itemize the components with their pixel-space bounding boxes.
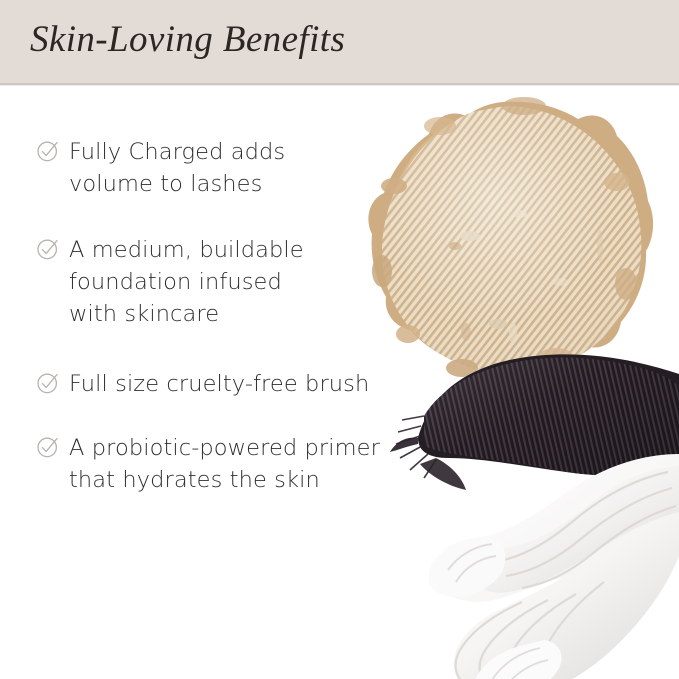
product-benefits-card: Skin-Loving Benefits [0,0,679,679]
list-item-label: Fully Charged adds volume to lashes [69,136,285,200]
check-circle-icon [36,139,60,163]
page-title: Skin-Loving Benefits [30,18,345,61]
list-item-label: Full size cruelty-free brush [69,368,369,400]
list-item: A probiotic-powered primer that hydrates… [36,432,436,496]
check-circle-icon [36,435,60,459]
check-circle-icon [36,237,60,261]
cream-swirl [428,454,679,679]
benefits-list: Fully Charged adds volume to lashes A me… [36,136,436,526]
list-item: A medium, buildable foundation infused w… [36,234,436,330]
list-item-label: A medium, buildable foundation infused w… [69,234,304,330]
header-divider-highlight [0,85,679,86]
check-circle-icon [36,371,60,395]
list-item: Fully Charged adds volume to lashes [36,136,436,200]
list-item: Full size cruelty-free brush [36,368,436,400]
list-item-label: A probiotic-powered primer that hydrates… [69,432,380,496]
